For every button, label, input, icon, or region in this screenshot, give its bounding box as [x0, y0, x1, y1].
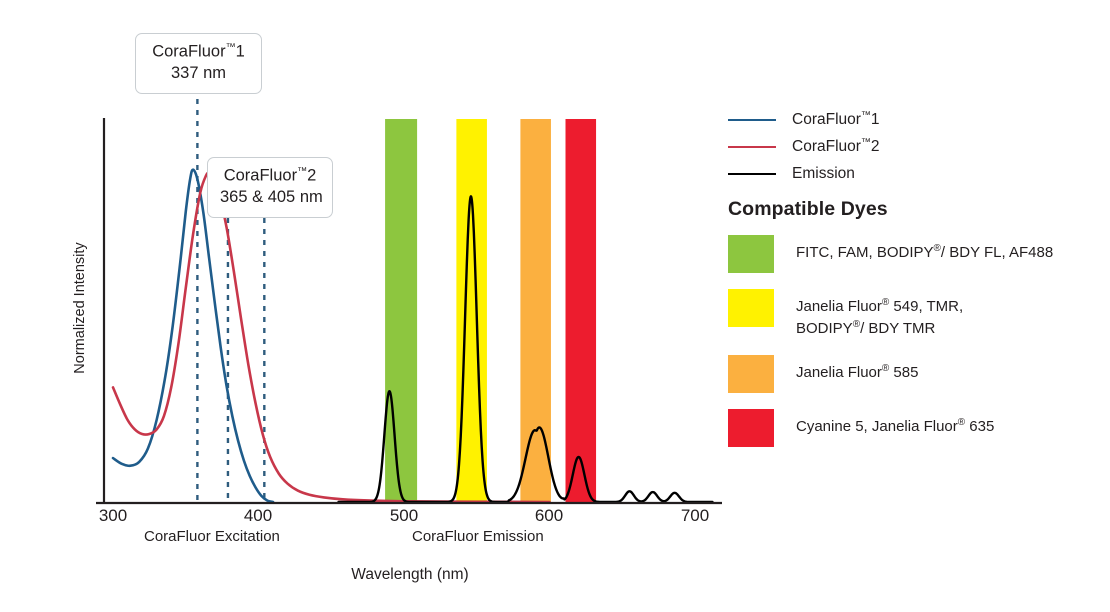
dye-color-swatch	[728, 235, 774, 273]
section-label-emission: CoraFluor Emission	[412, 528, 544, 545]
legend-item-label: CoraFluor™2	[792, 137, 880, 156]
callout-corafluor2-line1: CoraFluor™2	[220, 165, 320, 187]
callout-corafluor1-line2: 337 nm	[148, 63, 249, 85]
dye-label-line1: Cyanine 5, Janelia Fluor® 635	[796, 416, 994, 438]
callout-corafluor2-line2: 365 & 405 nm	[220, 187, 320, 209]
x-tick-500: 500	[374, 506, 434, 526]
y-axis-label: Normalized Intensity	[72, 208, 88, 408]
dye-row-1: FITC, FAM, BODIPY®/ BDY FL, AF488	[728, 235, 1108, 273]
dye-color-swatch	[728, 289, 774, 327]
section-label-excitation: CoraFluor Excitation	[144, 528, 280, 545]
dye-label-line1: Janelia Fluor® 549, TMR,	[796, 296, 963, 318]
legend-item-1: CoraFluor™1	[728, 106, 1098, 133]
legend-item-2: CoraFluor™2	[728, 133, 1098, 160]
dye-color-swatch	[728, 355, 774, 393]
legend-item-label: CoraFluor™1	[792, 110, 880, 129]
x-tick-700: 700	[665, 506, 725, 526]
callout-corafluor1-line1: CoraFluor™1	[148, 41, 249, 63]
series-legend: CoraFluor™1CoraFluor™2Emission	[728, 106, 1098, 187]
dye-label: Cyanine 5, Janelia Fluor® 635	[796, 409, 994, 438]
x-tick-600: 600	[519, 506, 579, 526]
dye-label-line1: FITC, FAM, BODIPY®/ BDY FL, AF488	[796, 242, 1053, 264]
compatible-dyes-title: Compatible Dyes	[728, 198, 1108, 221]
dye-bands-group	[385, 119, 596, 502]
curve-corafluor1	[113, 170, 273, 502]
x-tick-300: 300	[83, 506, 143, 526]
red-band	[566, 119, 597, 502]
x-axis-title: Wavelength (nm)	[255, 566, 565, 584]
dye-label-line2: BODIPY®/ BDY TMR	[796, 318, 963, 340]
dye-row-4: Cyanine 5, Janelia Fluor® 635	[728, 409, 1108, 447]
dye-color-swatch	[728, 409, 774, 447]
green-band	[385, 119, 417, 502]
compatible-dyes-list: FITC, FAM, BODIPY®/ BDY FL, AF488Janelia…	[728, 235, 1108, 447]
dye-label: FITC, FAM, BODIPY®/ BDY FL, AF488	[796, 235, 1053, 264]
legend-item-3: Emission	[728, 160, 1098, 187]
dye-row-2: Janelia Fluor® 549, TMR,BODIPY®/ BDY TMR	[728, 289, 1108, 339]
dye-label-line1: Janelia Fluor® 585	[796, 362, 918, 384]
excitation-marker-lines	[197, 88, 264, 502]
dye-row-3: Janelia Fluor® 585	[728, 355, 1108, 393]
legend-line-swatch	[728, 146, 776, 148]
callout-corafluor1: CoraFluor™1 337 nm	[135, 33, 262, 94]
compatible-dyes-panel: Compatible Dyes FITC, FAM, BODIPY®/ BDY …	[728, 198, 1108, 463]
callout-corafluor2: CoraFluor™2 365 & 405 nm	[207, 157, 333, 218]
dye-label: Janelia Fluor® 585	[796, 355, 918, 384]
x-tick-400: 400	[228, 506, 288, 526]
legend-line-swatch	[728, 119, 776, 121]
legend-item-label: Emission	[792, 165, 855, 183]
plot-area: Normalized Intensity 300 400 500 600 700…	[0, 0, 740, 612]
dye-label: Janelia Fluor® 549, TMR,BODIPY®/ BDY TMR	[796, 289, 963, 339]
legend-line-swatch	[728, 173, 776, 175]
fluorescence-spectra-figure: Normalized Intensity 300 400 500 600 700…	[0, 0, 1110, 612]
